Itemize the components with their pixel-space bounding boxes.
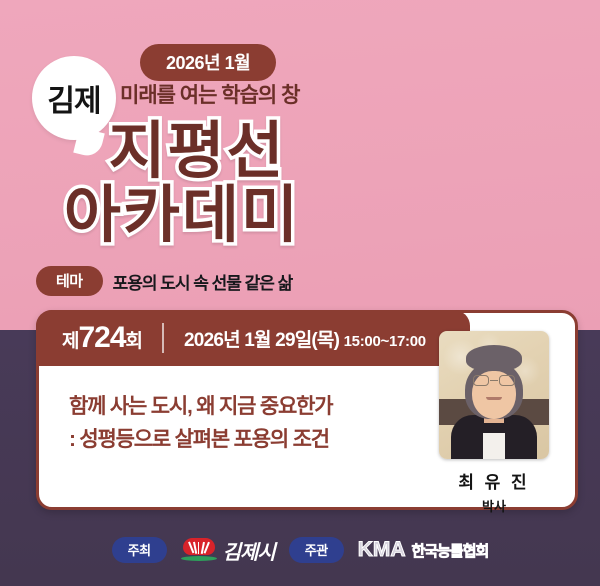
- host-logo: 김제시: [181, 536, 275, 565]
- month-badge: 2026년 1월: [140, 44, 276, 81]
- session-bar: 제724회 2026년 1월 29일(목) 15:00~17:00: [36, 310, 470, 366]
- lecture-line-1: 함께 사는 도시, 왜 지금 중요한가: [69, 391, 459, 424]
- session-number: 제724회: [62, 321, 142, 355]
- footer: 주최 김제시 주관 KMA 한국능률협회: [0, 524, 600, 576]
- organizer-badge: 주관: [289, 537, 344, 563]
- theme-badge: 테마: [36, 266, 103, 296]
- session-date: 2026년 1월 29일(목): [184, 330, 339, 351]
- host-badge: 주최: [112, 537, 167, 563]
- title-line-2: 아카데미: [0, 186, 360, 246]
- session-datetime: 2026년 1월 29일(목) 15:00~17:00: [184, 325, 426, 352]
- theme-text: 포용의 도시 속 선물 같은 삶: [113, 269, 293, 294]
- lecture-title: 함께 사는 도시, 왜 지금 중요한가 : 성평등으로 살펴본 포용의 조건: [69, 391, 459, 456]
- speaker-name: 최 유 진: [431, 468, 557, 493]
- session-count: 724: [78, 321, 125, 354]
- speaker-title: 박사: [431, 496, 557, 515]
- kma-abbr: KMA: [358, 538, 406, 562]
- event-detail-card: 제724회 2026년 1월 29일(목) 15:00~17:00 함께 사는 …: [36, 310, 578, 510]
- organizer-name: 한국능률협회: [412, 540, 489, 561]
- region-label: 김제: [47, 76, 100, 120]
- session-prefix: 제: [62, 331, 78, 352]
- host-name: 김제시: [223, 536, 275, 565]
- theme-row: 테마 포용의 도시 속 선물 같은 삶: [36, 266, 292, 296]
- session-time: 15:00~17:00: [344, 333, 426, 350]
- gimje-sun-icon: [181, 538, 217, 562]
- poster-subtitle: 미래를 여는 학습의 창: [120, 79, 299, 109]
- speaker-block: 최 유 진 박사: [431, 331, 557, 515]
- session-suffix: 회: [126, 331, 142, 352]
- page-title: 지평선 아카데미: [0, 122, 360, 245]
- title-line-1: 지평선: [0, 122, 360, 182]
- lecture-line-2: : 성평등으로 살펴본 포용의 조건: [69, 424, 459, 457]
- speaker-photo: [439, 331, 549, 459]
- glasses-icon: [472, 375, 516, 387]
- event-poster: 김제 2026년 1월 미래를 여는 학습의 창 지평선 아카데미 테마 포용의…: [0, 0, 600, 586]
- divider: [162, 323, 164, 353]
- organizer-logo: KMA 한국능률협회: [358, 538, 489, 562]
